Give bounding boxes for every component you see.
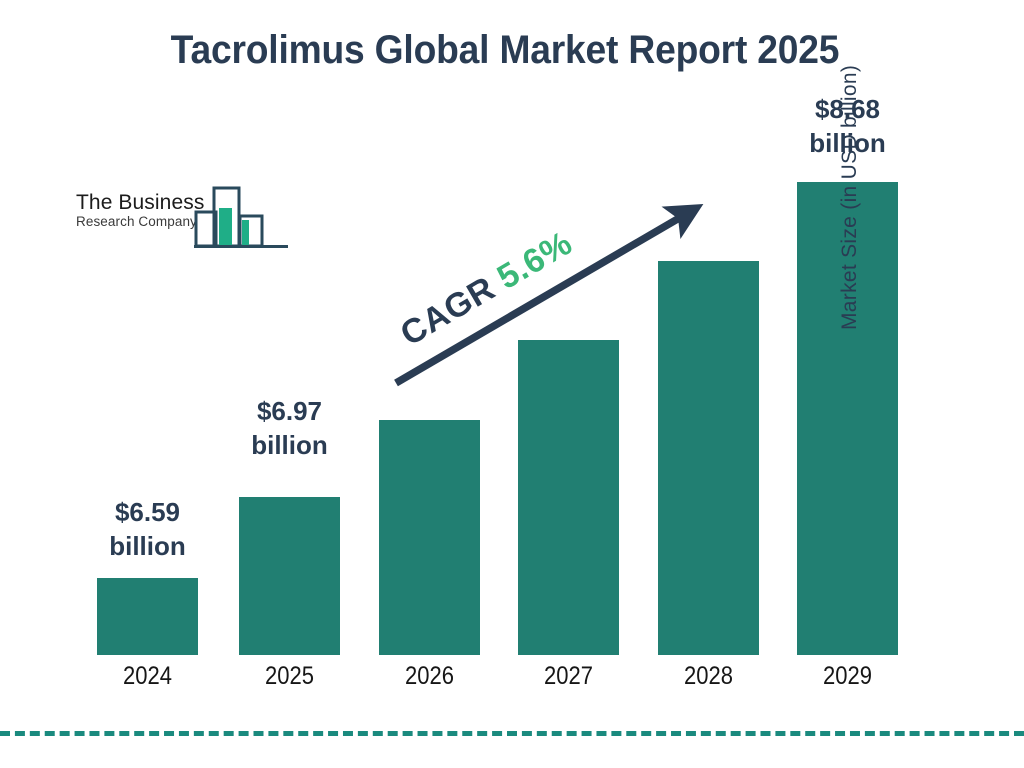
bar-2025[interactable] — [239, 497, 340, 655]
bar-value-2025: $6.97 billion — [219, 394, 360, 462]
bar-value-amount-2024: $6.59 — [77, 495, 218, 529]
bar-value-amount-2025: $6.97 — [219, 394, 360, 428]
bar-value-unit-2024: billion — [77, 529, 218, 563]
x-tick-2025: 2025 — [236, 662, 342, 691]
y-axis-title: Market Size (in USD billion) — [838, 10, 862, 330]
x-tick-2029: 2029 — [794, 662, 900, 691]
x-tick-2028: 2028 — [655, 662, 761, 691]
bar-value-2024: $6.59 billion — [77, 495, 218, 563]
x-tick-2024: 2024 — [94, 662, 200, 691]
x-tick-2026: 2026 — [376, 662, 482, 691]
bar-2024[interactable] — [97, 578, 198, 655]
x-tick-2027: 2027 — [515, 662, 621, 691]
bar-value-unit-2025: billion — [219, 428, 360, 462]
footer-divider — [0, 731, 1024, 736]
chart-canvas: Tacrolimus Global Market Report 2025 The… — [0, 0, 1024, 768]
bar-2026[interactable] — [379, 420, 480, 655]
growth-trend-arrow-icon — [380, 190, 720, 400]
